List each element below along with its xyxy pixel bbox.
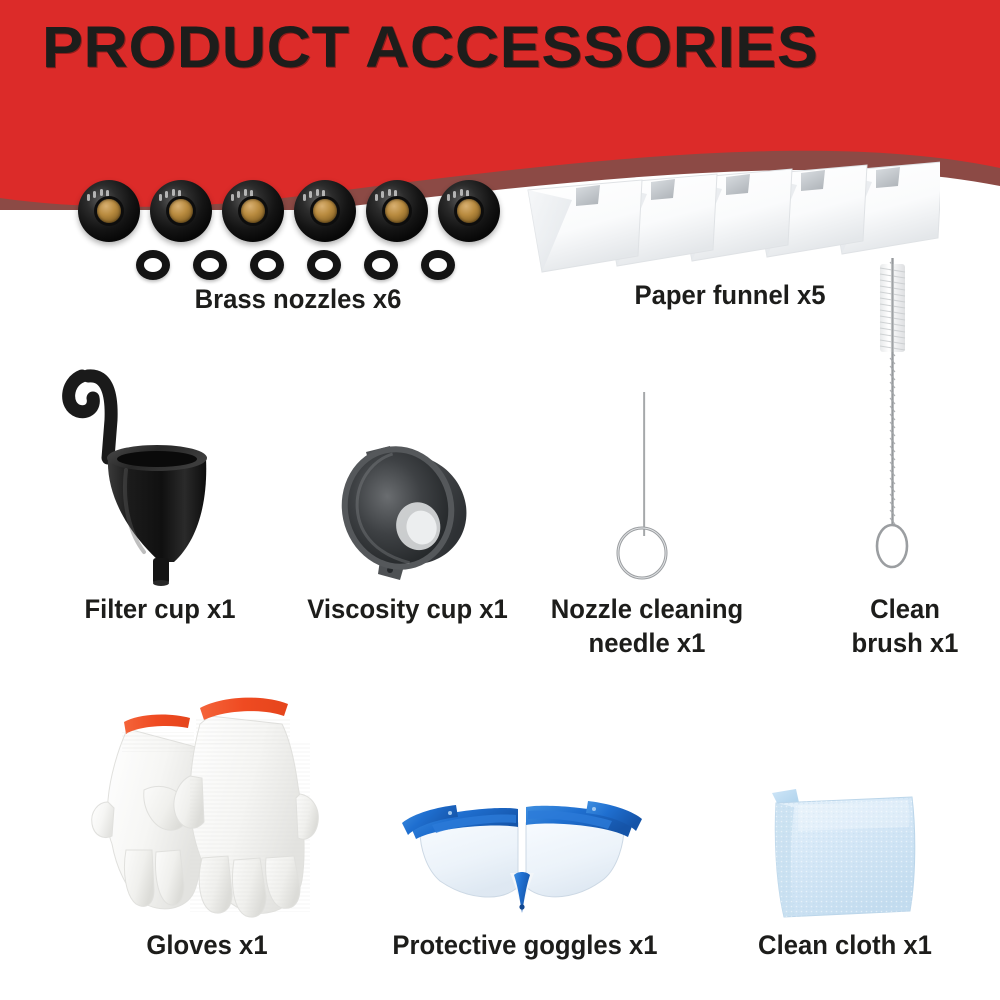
page-title: PRODUCT ACCESSORIES (42, 16, 818, 80)
nozzle-oring-icon (250, 250, 284, 280)
brass-nozzle-icon (78, 180, 140, 242)
nozzle-cleaning-needle-icon (600, 390, 690, 580)
nozzle-slots-icon (231, 189, 253, 203)
accessory-brass-nozzles (78, 180, 518, 290)
accessory-nozzle-cleaning-needle (600, 390, 690, 580)
product-accessories-infographic: PRODUCT ACCESSORIES Brass nozzles x6 (0, 0, 1000, 1000)
nozzle-oring-icon (364, 250, 398, 280)
label-gloves: Gloves x1 (69, 928, 345, 962)
nozzle-slots-icon (159, 189, 181, 203)
nozzle-oring-icon (193, 250, 227, 280)
accessory-gloves (82, 690, 332, 925)
nozzle-oring-icon (421, 250, 455, 280)
brass-nozzle-icon (438, 180, 500, 242)
label-clean-cloth: Clean cloth x1 (717, 928, 974, 962)
filter-cup-icon (48, 362, 278, 592)
clean-brush-icon (850, 258, 940, 588)
label-nozzle-cleaning-needle: Nozzle cleaning needle x1 (528, 592, 766, 660)
nozzle-oring-icon (136, 250, 170, 280)
label-filter-cup: Filter cup x1 (27, 592, 293, 626)
protective-goggles-icon (392, 795, 652, 920)
nozzle-slots-icon (87, 189, 109, 203)
accessory-clean-brush (850, 258, 940, 588)
label-brush-line-2: brush x1 (852, 628, 959, 658)
label-brush-line-1: Clean (870, 594, 940, 624)
accessory-filter-cup (48, 362, 278, 592)
accessory-clean-cloth (750, 785, 935, 925)
brass-nozzle-icon (150, 180, 212, 242)
viscosity-cup-icon (318, 438, 508, 588)
label-brass-nozzles: Brass nozzles x6 (89, 282, 507, 316)
clean-cloth-icon (750, 785, 935, 925)
nozzle-oring-icon (307, 250, 341, 280)
label-clean-brush: Clean brush x1 (824, 592, 986, 660)
gloves-icon (82, 690, 332, 925)
accessory-protective-goggles (392, 795, 652, 920)
nozzle-slots-icon (303, 189, 325, 203)
label-needle-line-2: needle x1 (589, 628, 706, 658)
brass-nozzle-icon (294, 180, 356, 242)
accessory-viscosity-cup (318, 438, 508, 588)
nozzle-slots-icon (447, 189, 469, 203)
brass-nozzle-icon (366, 180, 428, 242)
label-viscosity-cup: Viscosity cup x1 (291, 592, 524, 626)
label-protective-goggles: Protective goggles x1 (368, 928, 682, 962)
label-needle-line-1: Nozzle cleaning (551, 594, 743, 624)
nozzle-slots-icon (375, 189, 397, 203)
brass-nozzle-icon (222, 180, 284, 242)
